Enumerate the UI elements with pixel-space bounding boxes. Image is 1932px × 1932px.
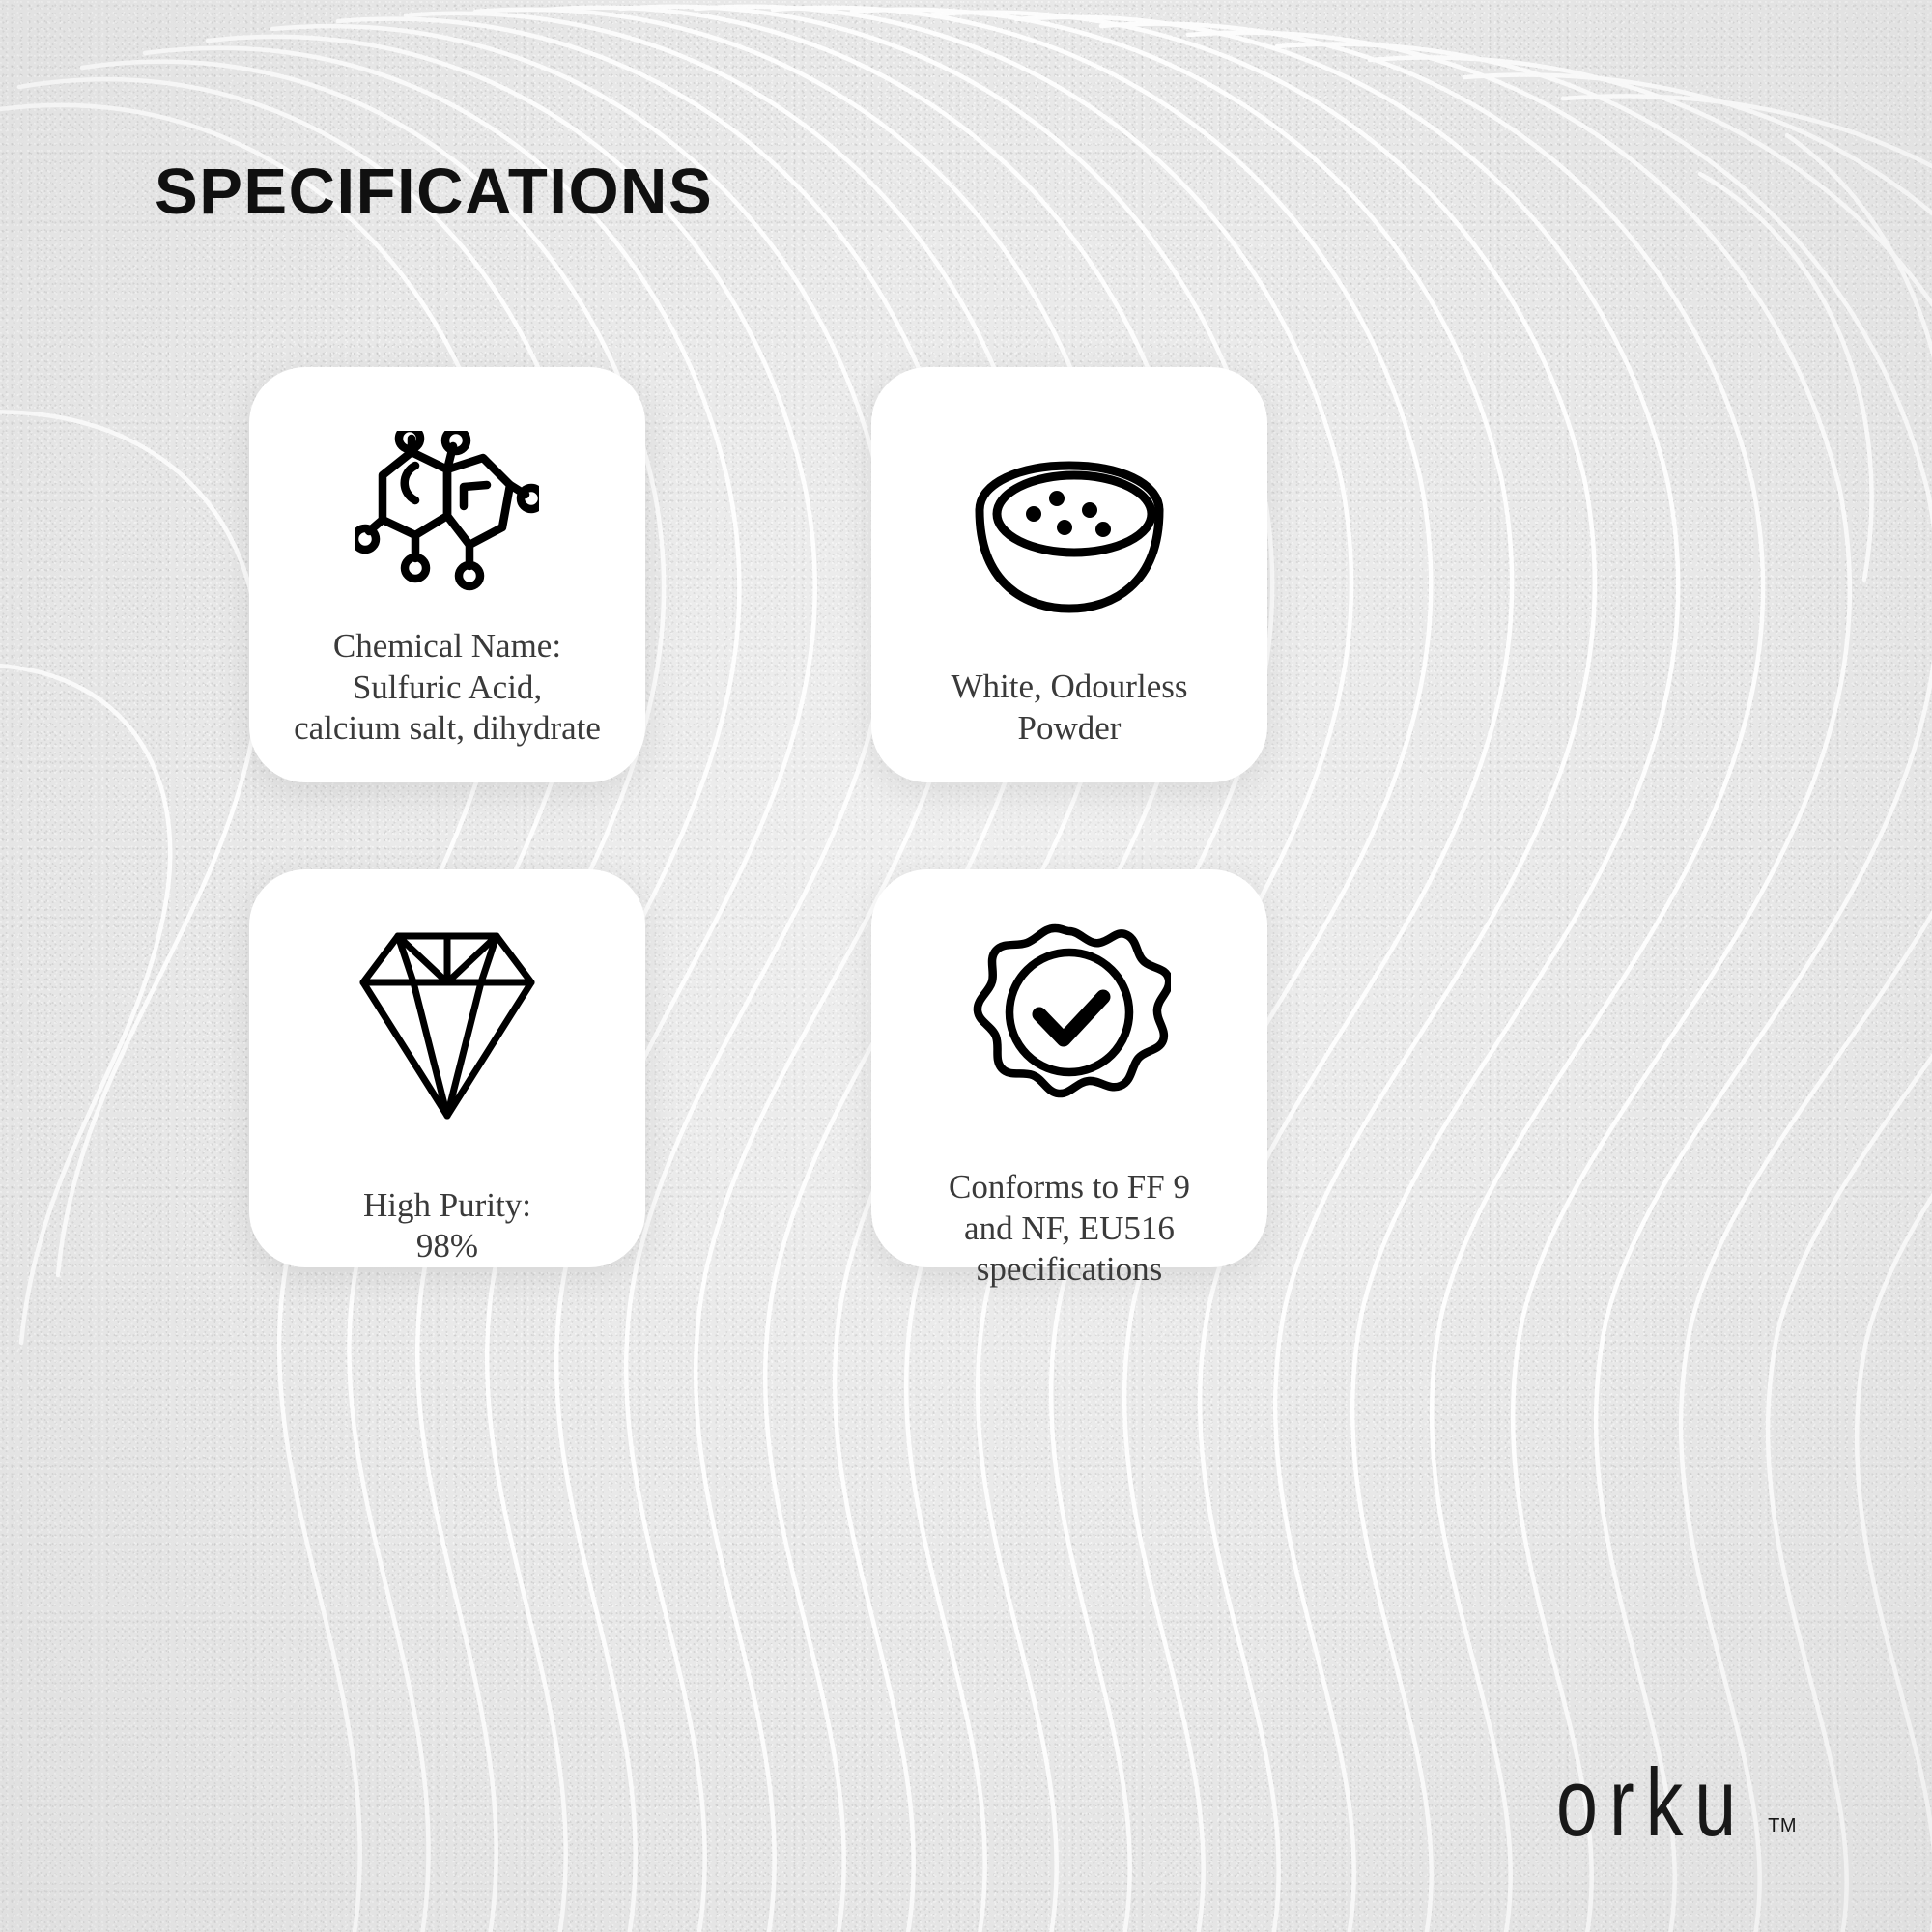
- spec-card-purity[interactable]: High Purity: 98%: [249, 869, 645, 1267]
- spec-line: 98%: [363, 1226, 531, 1267]
- spec-card-appearance[interactable]: White, Odourless Powder: [871, 367, 1267, 782]
- spec-line: Chemical Name:: [294, 626, 601, 668]
- spec-line: White, Odourless: [952, 667, 1188, 708]
- spec-card-chemical-name[interactable]: Chemical Name: Sulfuric Acid, calcium sa…: [249, 367, 645, 782]
- spec-card-label: High Purity: 98%: [348, 1185, 547, 1267]
- spec-card-label: Conforms to FF 9 and NF, EU516 specifica…: [933, 1167, 1206, 1291]
- spec-line: Powder: [952, 708, 1188, 750]
- spec-line: Sulfuric Acid,: [294, 668, 601, 709]
- powder-bowl-icon: [968, 446, 1171, 620]
- verified-badge-icon: [968, 923, 1171, 1126]
- diamond-icon: [355, 922, 539, 1127]
- brand-logo-wordmark: orku: [1556, 1759, 1747, 1847]
- spec-line: Conforms to FF 9: [949, 1167, 1190, 1208]
- spec-card-label: White, Odourless Powder: [936, 667, 1204, 749]
- spec-line: and NF, EU516: [949, 1208, 1190, 1250]
- spec-card-compliance[interactable]: Conforms to FF 9 and NF, EU516 specifica…: [871, 869, 1267, 1267]
- brand-logo: orku TM: [1556, 1773, 1797, 1847]
- spec-line: High Purity:: [363, 1185, 531, 1227]
- spec-line: calcium salt, dihydrate: [294, 708, 601, 750]
- spec-card-label: Chemical Name: Sulfuric Acid, calcium sa…: [278, 626, 616, 750]
- trademark-symbol: TM: [1768, 1815, 1797, 1837]
- page-title: SPECIFICATIONS: [155, 155, 713, 229]
- molecule-icon: [355, 431, 539, 605]
- spec-line: specifications: [949, 1249, 1190, 1291]
